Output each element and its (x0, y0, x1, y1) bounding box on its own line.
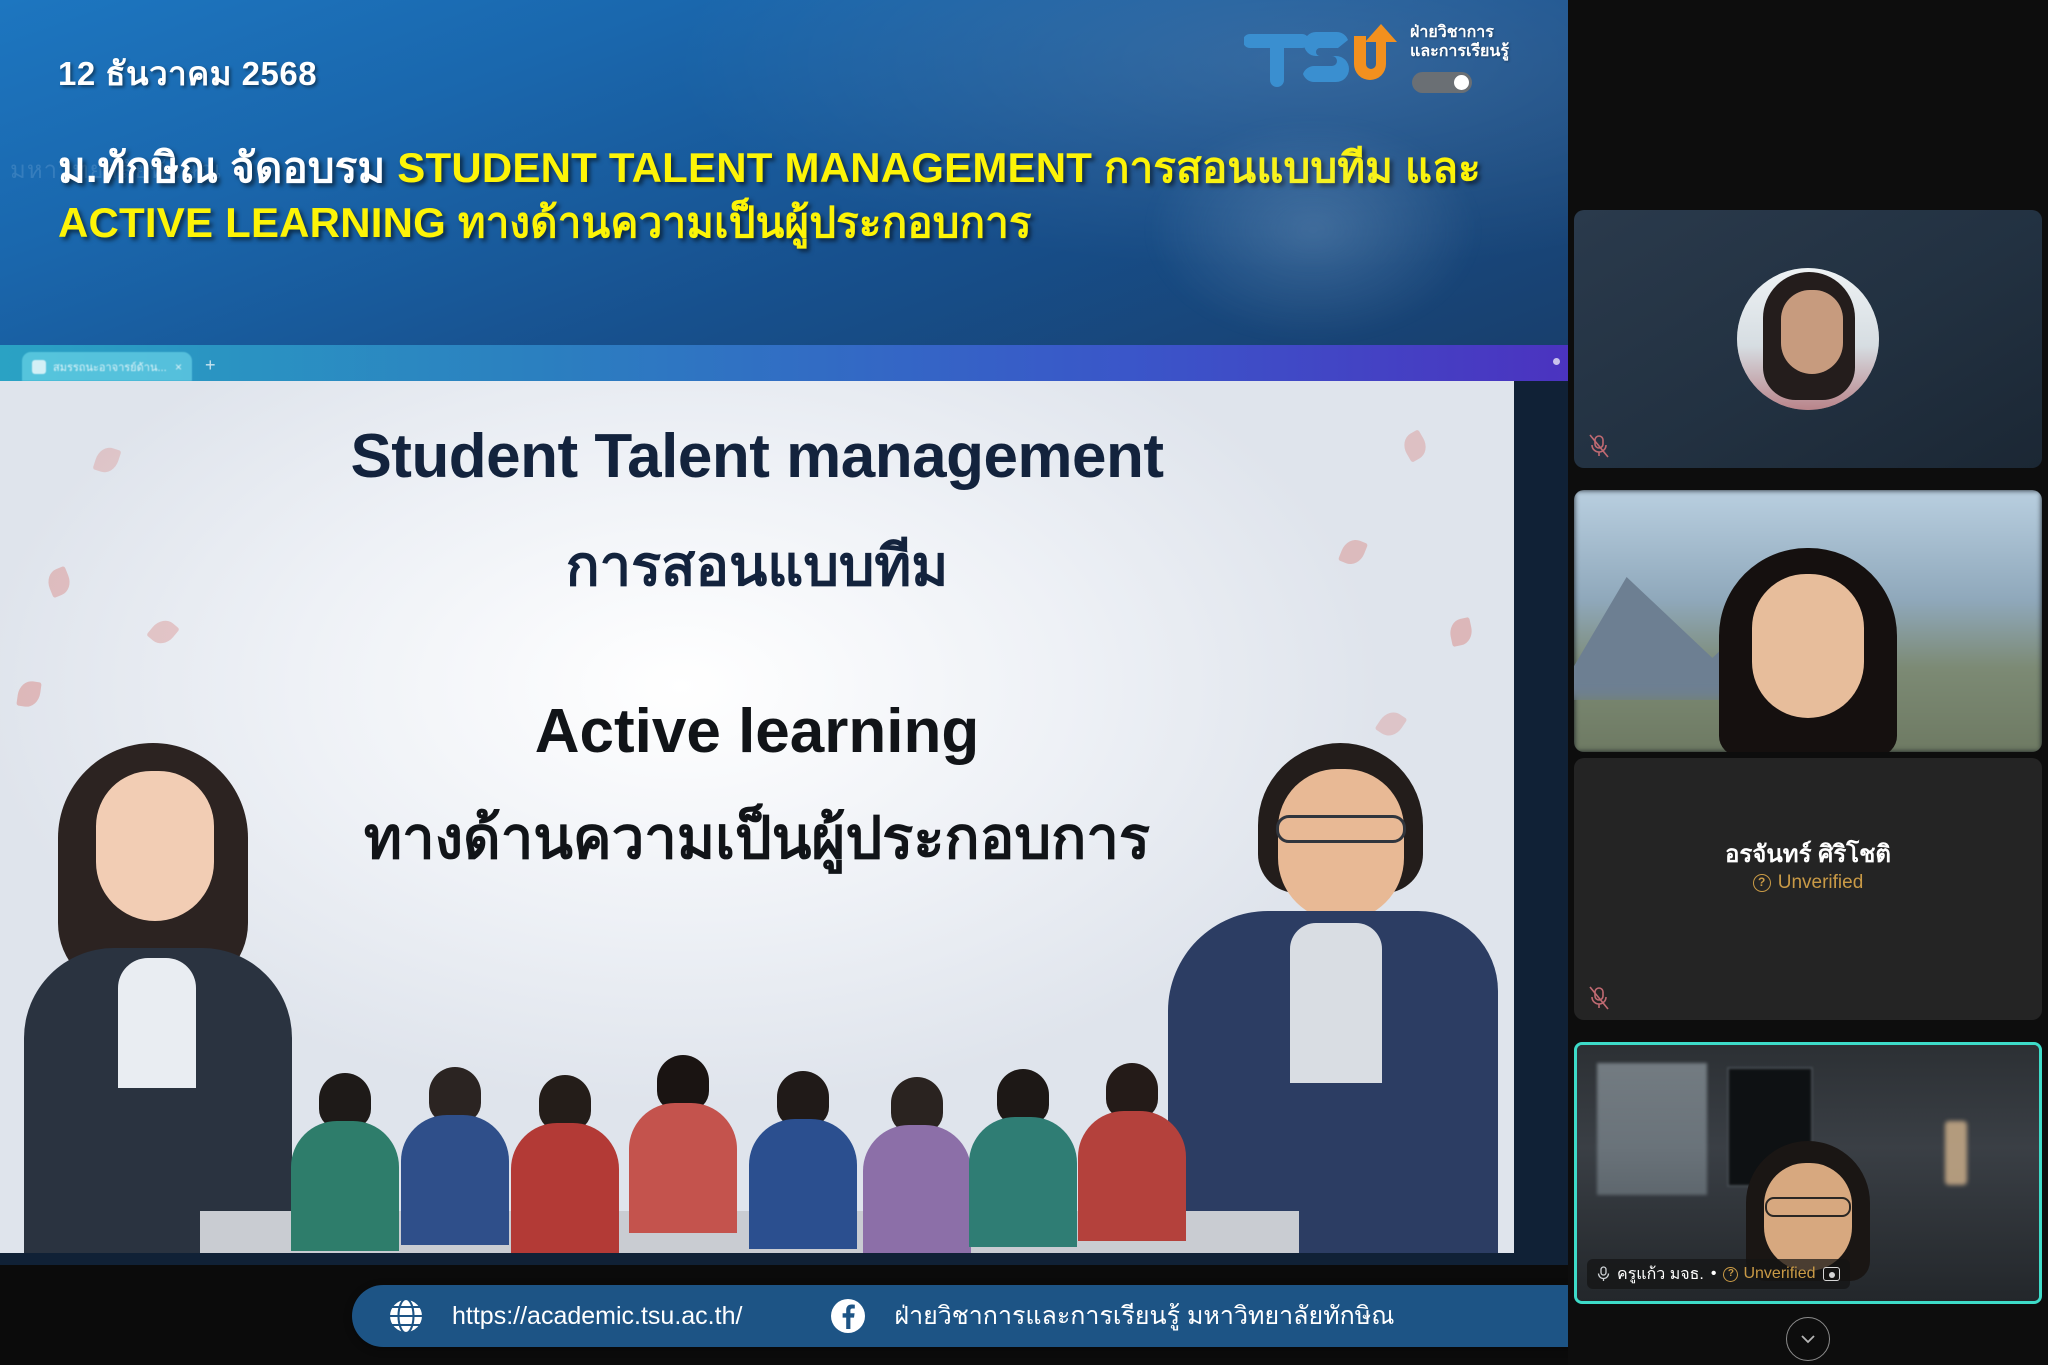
pin-video-icon[interactable] (1823, 1267, 1840, 1281)
participant-tile-3[interactable]: อรจันทร์ ศิริโชติ ? Unverified (1574, 758, 2042, 1020)
self-view-display-name: ครูแก้ว มจธ. (1617, 1262, 1704, 1287)
tsu-logo: ฝ่ายวิชาการ และการเรียนรู้ (1244, 16, 1524, 100)
shared-content-window: สมรรถนะอาจารย์ด้าน... × + Student Talent… (0, 345, 1568, 1265)
globe-icon (386, 1296, 426, 1336)
avatar (1737, 268, 1879, 410)
facebook-page-name[interactable]: ฝ่ายวิชาการและการเรียนรู้ มหาวิทยาลัยทัก… (894, 1296, 1394, 1336)
banner-title-segment-3: ทางด้านความเป็นผู้ประกอบการ (446, 199, 1032, 246)
mic-muted-icon (1588, 434, 1610, 458)
browser-chrome: สมรรถนะอาจารย์ด้าน... × + (0, 345, 1568, 381)
slide-students-group (0, 1038, 1514, 1253)
mic-muted-icon (1588, 986, 1610, 1010)
chevron-down-icon (1799, 1330, 1817, 1348)
slide-heading-en-1: Student Talent management (0, 421, 1514, 492)
mic-icon (1597, 1266, 1610, 1282)
participant-tile-1[interactable] (1574, 210, 2042, 468)
participant-tile-2[interactable] (1574, 490, 2042, 752)
poster-banner: มหาวิทยาลัยทักษิณ 12 ธันวาคม 2568 ม.ทักษ… (0, 0, 1568, 345)
banner-title: ม.ทักษิณ จัดอบรม STUDENT TALENT MANAGEME… (58, 140, 1538, 251)
browser-tab-title: สมรรถนะอาจารย์ด้าน... (53, 358, 168, 376)
tsu-subtitle-line-2: และการเรียนรู้ (1410, 43, 1509, 62)
status-label: Unverified (1778, 872, 1864, 894)
self-view-status: ? Unverified (1723, 1265, 1815, 1283)
close-tab-icon[interactable]: × (175, 360, 182, 374)
website-url[interactable]: https://academic.tsu.ac.th/ (452, 1302, 742, 1331)
tsu-logo-subtitle: ฝ่ายวิชาการ และการเรียนรู้ (1410, 24, 1509, 62)
slide-heading-th-1: การสอนแบบทีม (0, 521, 1514, 610)
participant-rail: อรจันทร์ ศิริโชติ ? Unverified (1568, 0, 2048, 1365)
self-view-name-label: ครูแก้ว มจธ. • ? Unverified (1587, 1259, 1850, 1289)
banner-title-segment-2: การสอนแบบทีม และ (1092, 144, 1481, 191)
self-view-tile[interactable]: ครูแก้ว มจธ. • ? Unverified (1574, 1042, 2042, 1304)
new-tab-icon[interactable]: + (205, 356, 216, 374)
window-indicator-dot (1553, 358, 1560, 365)
banner-date: 12 ธันวาคม 2568 (58, 47, 317, 100)
tsu-logo-toggle-shape (1412, 72, 1472, 93)
banner-title-segment-1: ม.ทักษิณ จัดอบรม (58, 144, 397, 191)
meeting-screen: การนำเสนอ: Shared Content − 100% + มหาวิ… (0, 0, 2048, 1365)
footer-contact-bar: https://academic.tsu.ac.th/ ฝ่ายวิชาการแ… (352, 1285, 1692, 1347)
self-view-separator: • (1711, 1265, 1717, 1283)
presentation-slide: Student Talent management การสอนแบบทีม A… (0, 381, 1514, 1253)
question-circle-icon: ? (1723, 1267, 1738, 1282)
facebook-icon (828, 1296, 868, 1336)
banner-title-highlight-1: STUDENT TALENT MANAGEMENT (397, 144, 1092, 191)
participant-name: อรจันทร์ ศิริโชติ (1574, 834, 2042, 873)
tsu-subtitle-line-1: ฝ่ายวิชาการ (1410, 24, 1509, 43)
status-badge: ? Unverified (1574, 872, 2042, 894)
question-circle-icon: ? (1753, 874, 1771, 892)
collapse-rail-button[interactable] (1786, 1317, 1830, 1361)
self-view-status-label: Unverified (1743, 1265, 1815, 1283)
tab-favicon (32, 360, 46, 374)
banner-title-highlight-2: ACTIVE LEARNING (58, 199, 446, 246)
browser-tab[interactable]: สมรรถนะอาจารย์ด้าน... × (22, 352, 192, 381)
tsu-logo-mark (1244, 22, 1404, 92)
